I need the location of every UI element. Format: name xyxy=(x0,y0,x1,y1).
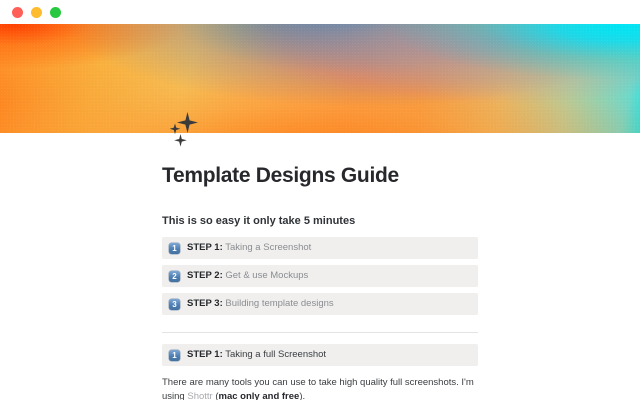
page-title[interactable]: Template Designs Guide xyxy=(162,133,478,189)
step-row[interactable]: 3 STEP 3: Building template designs xyxy=(162,293,478,315)
number-badge-icon: 1 xyxy=(169,350,180,361)
number-badge-icon: 2 xyxy=(169,271,180,282)
window-traffic-lights xyxy=(12,7,61,18)
banner-noise-overlay xyxy=(0,24,640,133)
minimize-window-button[interactable] xyxy=(31,7,42,18)
body-paragraph[interactable]: There are many tools you can use to take… xyxy=(162,366,478,400)
section-header-row[interactable]: 1 STEP 1: Taking a full Screenshot xyxy=(162,344,478,366)
paragraph-part-3: ). xyxy=(299,391,305,400)
number-badge-icon: 3 xyxy=(169,299,180,310)
section-header-label: STEP 1: xyxy=(187,349,223,360)
step-row[interactable]: 2 STEP 2: Get & use Mockups xyxy=(162,265,478,287)
step-row-label: STEP 3: xyxy=(187,298,223,309)
close-window-button[interactable] xyxy=(12,7,23,18)
step-row-text: STEP 1: Taking a Screenshot xyxy=(187,242,311,254)
step-row[interactable]: 1 STEP 1: Taking a Screenshot xyxy=(162,237,478,259)
cover-banner[interactable] xyxy=(0,24,640,133)
step-row-description: Taking a Screenshot xyxy=(225,242,311,253)
window-titlebar xyxy=(0,0,640,24)
step-row-label: STEP 1: xyxy=(187,242,223,253)
step-row-text: STEP 3: Building template designs xyxy=(187,298,334,310)
step-row-text: STEP 2: Get & use Mockups xyxy=(187,270,308,282)
section-divider xyxy=(162,332,478,333)
section-header-description: Taking a full Screenshot xyxy=(225,349,326,360)
number-badge-icon: 1 xyxy=(169,243,180,254)
step-row-label: STEP 2: xyxy=(187,270,223,281)
step-list: 1 STEP 1: Taking a Screenshot 2 STEP 2: … xyxy=(162,228,478,315)
step-row-description: Get & use Mockups xyxy=(225,270,308,281)
section-header-text: STEP 1: Taking a full Screenshot xyxy=(187,349,326,361)
document-body: Template Designs Guide This is so easy i… xyxy=(0,133,640,400)
app-window: Template Designs Guide This is so easy i… xyxy=(0,0,640,400)
zoom-window-button[interactable] xyxy=(50,7,61,18)
page-content: Template Designs Guide This is so easy i… xyxy=(162,133,478,400)
paragraph-bold: mac only and free xyxy=(219,391,300,400)
step-row-description: Building template designs xyxy=(225,298,333,309)
sparkles-icon[interactable] xyxy=(160,108,206,154)
sub-heading[interactable]: This is so easy it only take 5 minutes xyxy=(162,189,478,228)
shottr-link[interactable]: Shottr xyxy=(187,391,212,400)
